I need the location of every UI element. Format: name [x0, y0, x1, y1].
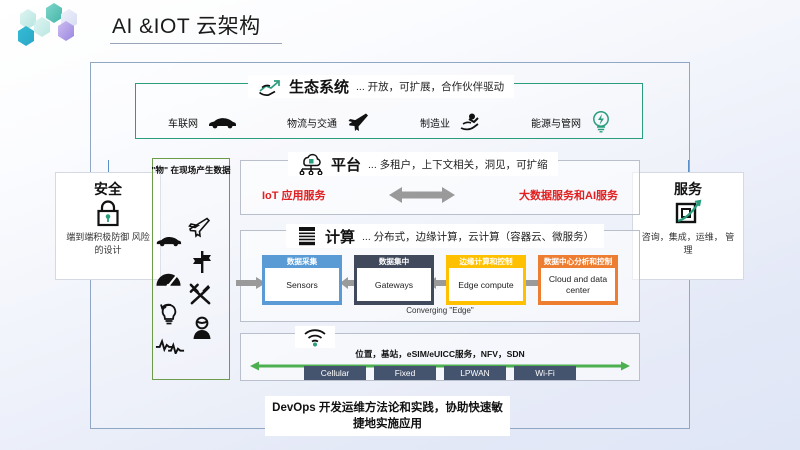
ecosystem-item-logistics[interactable]: 物流与交通 [287, 111, 370, 133]
airplane-icon [346, 111, 370, 133]
handshake-exchange-icon [258, 77, 282, 97]
ecosystem-item-connected-vehicles[interactable]: 车联网 [168, 115, 237, 130]
compute-stage-body: Cloud and data center [541, 268, 615, 301]
services-title: 服务 [674, 182, 702, 197]
ecosystem-item-label: 能源与管网 [531, 115, 581, 130]
ecosystem-items: 车联网 物流与交通 制造业 [143, 108, 637, 136]
slide-root: AI &IOT 云架构 安全 端到端积极防御 风险的设计 服务 [0, 0, 800, 450]
compute-stage-head: 数据集中 [379, 257, 409, 268]
wifi-icon [303, 327, 327, 347]
compute-stage-head: 数据采集 [287, 257, 317, 268]
services-card[interactable]: 服务 咨询，集成，运维， 管理 [632, 172, 744, 280]
energy-bulb-icon [590, 110, 612, 134]
compute-stages: 数据采集 Sensors 数据集中 Gateways 边缘计算和控制 Edge … [262, 255, 618, 305]
ecosystem-subtitle: ... 开放，可扩展，合作伙伴驱动 [356, 79, 504, 94]
devops-banner: DevOps 开发运维方法论和实践，协助快速敏捷地实施应用 [265, 396, 510, 436]
tools-icon [188, 282, 213, 307]
ecosystem-item-manufacturing[interactable]: 制造业 [420, 112, 481, 132]
platform-services-row: IoT 应用服务 大数据服务和AI服务 [246, 182, 634, 208]
connectivity-chip-fixed[interactable]: Fixed [374, 366, 436, 380]
services-description: 咨询，集成，运维， 管理 [633, 231, 743, 257]
compute-stage-head: 数据中心分析和控制 [544, 257, 612, 268]
ecosystem-item-energy[interactable]: 能源与管网 [531, 110, 612, 134]
double-arrow-icon [389, 185, 455, 205]
compute-stage-body: Edge compute [449, 268, 523, 301]
server-stack-icon [296, 225, 318, 247]
things-icon-cluster [155, 212, 227, 372]
robot-arm-icon [459, 112, 481, 132]
platform-iot-services[interactable]: IoT 应用服务 [262, 187, 326, 203]
connectivity-chip-cellular[interactable]: Cellular [304, 366, 366, 380]
compute-label: 计算 ... 分布式，边缘计算，云计算（容器云、微服务） [286, 224, 604, 248]
page-title: AI &IOT 云架构 [112, 10, 261, 40]
compute-stage-body: Gateways [357, 268, 431, 301]
security-title: 安全 [94, 182, 122, 197]
compute-stage-body: Sensors [265, 268, 339, 301]
platform-subtitle: ... 多租户，上下文相关，洞见，可扩缩 [368, 157, 548, 172]
compute-stage-sensors[interactable]: 数据采集 Sensors [262, 255, 342, 305]
connectivity-chip-wifi[interactable]: Wi-Fi [514, 366, 576, 380]
compute-stage-head: 边缘计算和控制 [459, 257, 512, 268]
converging-edge-label: Converging "Edge" [262, 306, 618, 315]
growth-chart-icon [673, 199, 703, 227]
security-description: 端到端积极防御 风险的设计 [56, 231, 160, 257]
ecosystem-label: 生态系统 ... 开放，可扩展，合作伙伴驱动 [248, 75, 514, 98]
compute-stage-edge[interactable]: 边缘计算和控制 Edge compute [446, 255, 526, 305]
platform-label: 平台 ... 多租户，上下文相关，洞见，可扩缩 [288, 152, 558, 176]
car-icon [207, 115, 237, 129]
compute-stage-gateways[interactable]: 数据集中 Gateways [354, 255, 434, 305]
cloud-network-icon [298, 153, 324, 175]
connectivity-chip-lpwan[interactable]: LPWAN [444, 366, 506, 380]
lightbulb-icon [158, 302, 180, 326]
security-card[interactable]: 安全 端到端积极防御 风险的设计 [55, 172, 161, 280]
compute-subtitle: ... 分布式，边缘计算，云计算（容器云、微服务） [362, 229, 594, 244]
ecosystem-item-label: 制造业 [420, 115, 450, 130]
person-icon [191, 316, 213, 340]
platform-title: 平台 [331, 154, 361, 175]
connectivity-label [295, 326, 335, 348]
platform-bigdata-ai-services[interactable]: 大数据服务和AI服务 [519, 187, 618, 203]
ecosystem-item-label: 车联网 [168, 115, 198, 130]
compute-stage-cloud[interactable]: 数据中心分析和控制 Cloud and data center [538, 255, 618, 305]
compute-title: 计算 [325, 226, 355, 247]
ecosystem-title: 生态系统 [289, 76, 349, 97]
ecosystem-item-label: 物流与交通 [287, 115, 337, 130]
title-underline [110, 43, 282, 44]
signpost-icon [192, 250, 212, 274]
connectivity-chips: Cellular Fixed LPWAN Wi-Fi [304, 366, 576, 380]
things-title: "物" 在现场产生数据 [150, 165, 232, 177]
heartbeat-icon [155, 336, 185, 354]
hexagon-cluster-logo [8, 2, 108, 58]
lock-icon [95, 199, 121, 227]
connectivity-features: 位置，基站，eSIM/eUICC服务，NFV，SDN [250, 348, 630, 360]
airplane-icon [187, 216, 211, 238]
car-icon [155, 234, 182, 247]
gauge-icon [155, 268, 182, 290]
